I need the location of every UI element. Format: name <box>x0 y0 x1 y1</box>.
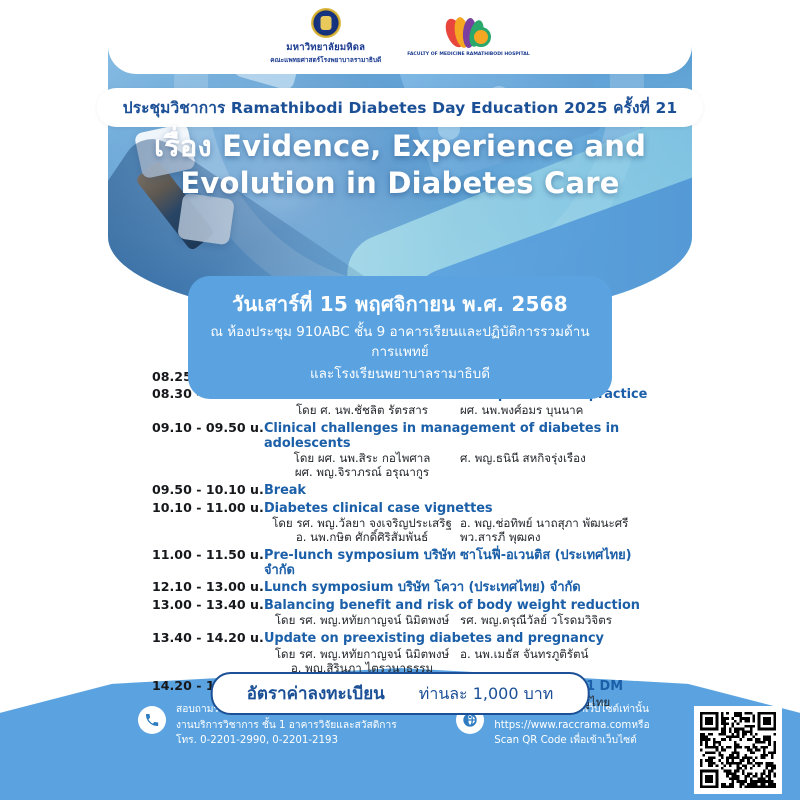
schedule-time: 09.10 - 09.50 u. <box>152 421 264 435</box>
speaker-name: พว.สารภี พุฒคง <box>460 530 662 544</box>
phone-line-2: งานบริการวิชาการ ชั้น 1 อาคารวิจัยและสวั… <box>176 718 420 734</box>
schedule-row: 12.10 - 13.00 u.Lunch symposium บริษัท โ… <box>152 580 662 595</box>
schedule-row: 09.50 - 10.10 u.Break <box>152 483 662 498</box>
schedule-title: Update on preexisting diabetes and pregn… <box>264 632 604 646</box>
mahidol-logo: มหาวิทยาลัยมหิดล คณะแพทยศาสตร์โรงพยาบาลร… <box>270 8 381 65</box>
qr-code[interactable] <box>694 706 782 794</box>
schedule-speaker-row: โดย ผศ. นพ.สิระ กอไพศาลศ. พญ.ธนินี สหกิจ… <box>264 451 662 465</box>
schedule-title: Break <box>264 484 306 498</box>
event-venue-line-1: ณ ห้องประชุม 910ABC ชั้น 9 อาคารเรียนและ… <box>204 323 596 362</box>
schedule-speaker-row: ผศ. พญ.จิราภรณ์ อรุณากูร <box>264 465 662 479</box>
title-line-2: Evolution in Diabetes Care <box>0 165 800 202</box>
fee-value: ท่านละ 1,000 บาท <box>419 682 554 707</box>
schedule-title: Diabetes clinical case vignettes <box>264 502 493 516</box>
schedule-row: 13.00 - 13.40 u.Balancing benefit and ri… <box>152 598 662 613</box>
schedule-time: 09.50 - 10.10 u. <box>152 483 264 497</box>
schedule-time: 11.00 - 11.50 u. <box>152 548 264 562</box>
faculty-name: คณะแพทยศาสตร์โรงพยาบาลรามาธิบดี <box>270 55 381 65</box>
event-name-pill: ประชุมวิชาการ Ramathibodi Diabetes Day E… <box>97 88 703 127</box>
university-name: มหาวิทยาลัยมหิดล <box>286 40 365 55</box>
speaker-name: โดย ผศ. นพ.สิระ กอไพศาล <box>264 451 460 465</box>
schedule-speaker-row: อ. นพ.กษิต ศักดิ์ศิริสัมพันธ์พว.สารภี พุ… <box>264 530 662 544</box>
page-title: เรื่อง Evidence, Experience and Evolutio… <box>0 128 800 202</box>
schedule-speaker-row: โดย รศ. พญ.หทัยกาญจน์ นิมิตพงษ์รศ. พญ.ดร… <box>264 613 662 627</box>
title-line-1: เรื่อง Evidence, Experience and <box>0 128 800 165</box>
speaker-name: โดย ศ. นพ.ชัชลิต รัตรสาร <box>264 403 460 417</box>
schedule-title: Clinical challenges in management of dia… <box>264 422 662 451</box>
schedule-speaker-row: โดย ศ. นพ.ชัชลิต รัตรสารผศ. นพ.พงศ์อมร บ… <box>264 403 662 417</box>
speaker-name: ผศ. พญ.จิราภรณ์ อรุณากูร <box>264 465 460 479</box>
schedule-time: 13.00 - 13.40 u. <box>152 598 264 612</box>
conference-poster: มหาวิทยาลัยมหิดล คณะแพทยศาสตร์โรงพยาบาลร… <box>0 0 800 800</box>
schedule-time: 10.10 - 11.00 u. <box>152 501 264 515</box>
speaker-name: อ. นพ.เมธัส จันทรภูติรัตน์ <box>460 647 662 661</box>
web-line-3: Scan QR Code เพื่อเข้าเว็บไซต์ <box>494 733 649 749</box>
schedule-title: Pre-lunch symposium บริษัท ซาโนฟี่-อเวนต… <box>264 549 662 578</box>
schedule-row: 09.10 - 09.50 u.Clinical challenges in m… <box>152 421 662 451</box>
schedule-row: 13.40 - 14.20 u.Update on preexisting di… <box>152 631 662 646</box>
schedule-time: 12.10 - 13.00 u. <box>152 580 264 594</box>
sixty-years-icon <box>445 17 491 51</box>
event-venue-line-2: และโรงเรียนพยาบาลรามาธิบดี <box>204 365 596 385</box>
schedule-speaker-row: โดย รศ. พญ.หทัยกาญจน์ นิมิตพงษ์อ. นพ.เมธ… <box>264 647 662 661</box>
speaker-name: รศ. พญ.ดรุณีวัลย์ วโรดมวิจิตร <box>460 613 662 627</box>
speaker-name <box>460 465 662 479</box>
logo-row: มหาวิทยาลัยมหิดล คณะแพทยศาสตร์โรงพยาบาลร… <box>0 8 800 65</box>
speaker-name: โดย รศ. พญ.หทัยกาญจน์ นิมิตพงษ์ <box>264 613 460 627</box>
speaker-name: ศ. พญ.ธนินี สหกิจรุ่งเรือง <box>460 451 662 465</box>
speaker-name: อ. พญ.ช่อทิพย์ นาถสุภา พัฒนะศรี <box>460 516 662 530</box>
mahidol-seal-icon <box>311 8 341 38</box>
schedule-time: 13.40 - 14.20 u. <box>152 631 264 645</box>
qr-code-image <box>700 712 776 788</box>
speaker-name: โดย รศ. พญ.วัลยา จงเจริญประเสริฐ <box>264 516 460 530</box>
anniversary-caption: FACULTY OF MEDICINE RAMATHIBODI HOSPITAL <box>407 52 530 57</box>
registration-fee-pill: อัตราค่าลงทะเบียน ท่านละ 1,000 บาท <box>211 672 590 715</box>
schedule-list: 08.25 - 08.30 u.Opening08.30 - 09.10 u.L… <box>152 370 662 713</box>
anniversary-logo: FACULTY OF MEDICINE RAMATHIBODI HOSPITAL <box>407 17 530 57</box>
schedule-row: 11.00 - 11.50 u.Pre-lunch symposium บริษ… <box>152 548 662 578</box>
date-venue-box: วันเสาร์ที่ 15 พฤศจิกายน พ.ศ. 2568 ณ ห้อ… <box>188 276 612 399</box>
web-line-2[interactable]: https://www.raccrama.comหรือ <box>494 718 649 734</box>
fee-label: อัตราค่าลงทะเบียน <box>247 680 385 707</box>
schedule-speaker-row: โดย รศ. พญ.วัลยา จงเจริญประเสริฐอ. พญ.ช่… <box>264 516 662 530</box>
speaker-name: โดย รศ. พญ.หทัยกาญจน์ นิมิตพงษ์ <box>264 647 460 661</box>
event-date: วันเสาร์ที่ 15 พฤศจิกายน พ.ศ. 2568 <box>204 288 596 320</box>
schedule-row: 10.10 - 11.00 u.Diabetes clinical case v… <box>152 501 662 516</box>
phone-line-3: โทร. 0-2201-2990, 0-2201-2193 <box>176 733 420 749</box>
speaker-name: ผศ. นพ.พงศ์อมร บุนนาค <box>460 403 662 417</box>
schedule-title: Lunch symposium บริษัท โควา (ประเทศไทย) … <box>264 581 581 595</box>
event-name-text: ประชุมวิชาการ Ramathibodi Diabetes Day E… <box>123 99 677 117</box>
schedule-title: Balancing benefit and risk of body weigh… <box>264 599 640 613</box>
speaker-name: อ. นพ.กษิต ศักดิ์ศิริสัมพันธ์ <box>264 530 460 544</box>
